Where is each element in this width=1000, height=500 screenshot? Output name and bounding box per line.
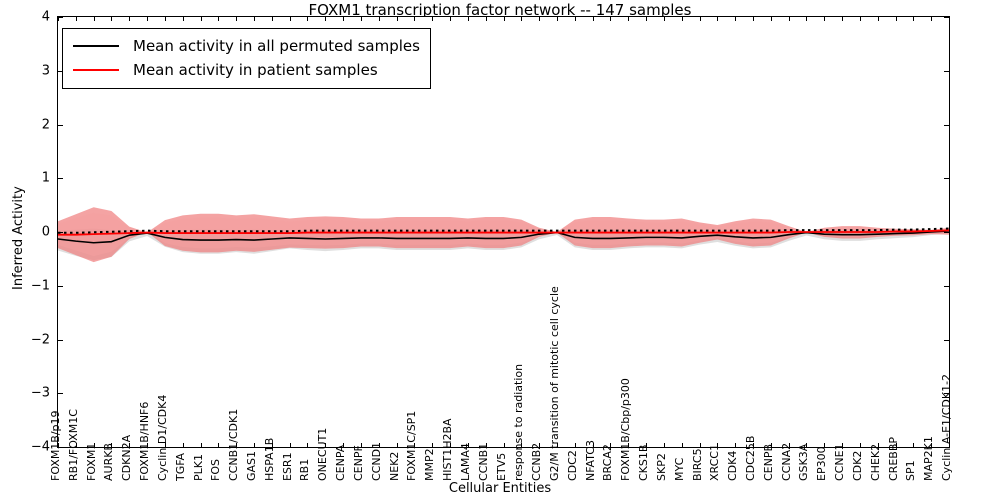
- x-tick-mark: [521, 17, 522, 21]
- x-tick-mark: [860, 17, 861, 21]
- x-tick-label: Cyclin D1/CDK4: [157, 395, 168, 481]
- x-tick-mark: [165, 17, 166, 21]
- x-tick-mark: [218, 17, 219, 21]
- x-tick-mark: [504, 17, 505, 21]
- x-tick-label: CCNA2: [781, 443, 792, 481]
- x-tick-label: RB1: [299, 459, 310, 481]
- x-tick-mark: [307, 17, 308, 21]
- x-tick-label: FOXM1: [86, 443, 97, 481]
- y-tick-mark: [58, 232, 63, 233]
- y-tick-label: 0: [0, 225, 50, 240]
- x-tick-mark: [771, 17, 772, 21]
- x-tick-label: NFATC3: [585, 440, 596, 481]
- x-tick-label: CKS1B: [638, 445, 649, 481]
- legend-label-patient: Mean activity in patient samples: [133, 61, 378, 79]
- x-tick-mark: [806, 17, 807, 21]
- x-tick-mark: [450, 17, 451, 21]
- legend-item-patient: Mean activity in patient samples: [73, 58, 420, 82]
- x-tick-mark: [789, 17, 790, 21]
- x-tick-mark: [575, 17, 576, 21]
- x-tick-label: LAMA4: [460, 443, 471, 481]
- x-tick-mark: [504, 443, 505, 447]
- x-tick-mark: [593, 17, 594, 21]
- y-tick-mark: [58, 286, 63, 287]
- x-tick-label: ETV5: [496, 453, 507, 481]
- x-tick-label: AURKB: [103, 443, 114, 481]
- x-tick-label: BRCA2: [602, 444, 613, 481]
- x-tick-mark: [664, 443, 665, 447]
- legend: Mean activity in all permuted samples Me…: [62, 28, 431, 89]
- x-tick-label: PLK1: [193, 454, 204, 481]
- x-tick-label: CDC25B: [745, 436, 756, 481]
- x-tick-mark: [343, 17, 344, 21]
- x-tick-label: TGFA: [175, 453, 186, 481]
- x-tick-mark: [557, 17, 558, 21]
- x-tick-mark: [147, 17, 148, 21]
- x-tick-label: CENPA: [335, 445, 346, 481]
- y-tick-label: −4: [0, 440, 50, 455]
- x-tick-mark: [58, 17, 59, 21]
- y-tick-mark: [944, 286, 949, 287]
- x-tick-mark: [325, 17, 326, 21]
- x-tick-mark: [183, 17, 184, 21]
- x-tick-label: FOXM1C/SP1: [406, 411, 417, 481]
- y-tick-label: 4: [0, 10, 50, 25]
- x-tick-label: ESR1: [282, 452, 293, 481]
- x-tick-mark: [682, 443, 683, 447]
- y-tick-mark: [58, 125, 63, 126]
- x-tick-mark: [700, 443, 701, 447]
- x-tick-mark: [201, 443, 202, 447]
- x-tick-mark: [290, 17, 291, 21]
- y-tick-mark: [944, 125, 949, 126]
- x-tick-mark: [610, 17, 611, 21]
- y-tick-mark: [58, 340, 63, 341]
- x-tick-label: HSPA1B: [264, 438, 275, 481]
- x-tick-label: ONECUT1: [317, 428, 328, 481]
- x-tick-label: Cyclin A-E1/CDK1-2: [941, 374, 952, 481]
- x-tick-label: EP300: [816, 446, 827, 481]
- y-tick-label: 2: [0, 117, 50, 132]
- x-tick-label: CCNB2: [531, 443, 542, 481]
- x-tick-mark: [432, 17, 433, 21]
- x-tick-mark: [931, 17, 932, 21]
- x-tick-label: FOXM1B/p19: [50, 410, 61, 481]
- x-tick-mark: [76, 17, 77, 21]
- x-axis-tick-labels: FOXM1B/p19RB1/FOXM1CFOXM1AURKBCDKN2AFOXM…: [57, 449, 950, 481]
- x-tick-mark: [753, 17, 754, 21]
- x-tick-mark: [183, 443, 184, 447]
- x-tick-label: CHEK2: [870, 444, 881, 481]
- y-tick-label: −3: [0, 386, 50, 401]
- x-tick-label: GSK3A: [798, 444, 809, 481]
- x-tick-mark: [379, 17, 380, 21]
- x-tick-mark: [272, 17, 273, 21]
- x-tick-mark: [628, 17, 629, 21]
- x-tick-mark: [682, 17, 683, 21]
- x-tick-mark: [949, 17, 950, 21]
- x-tick-mark: [94, 17, 95, 21]
- x-tick-mark: [111, 17, 112, 21]
- x-tick-mark: [700, 17, 701, 21]
- x-tick-mark: [539, 17, 540, 21]
- y-tick-mark: [944, 232, 949, 233]
- y-tick-mark: [944, 71, 949, 72]
- x-tick-mark: [717, 17, 718, 21]
- x-tick-label: SP1: [905, 460, 916, 481]
- x-tick-label: BIRC5: [692, 448, 703, 481]
- x-tick-mark: [664, 17, 665, 21]
- x-tick-label: CREBBP: [888, 437, 899, 481]
- x-tick-label: CDK4: [727, 451, 738, 481]
- x-tick-label: CCNB1/CDK1: [228, 409, 239, 481]
- x-tick-mark: [824, 17, 825, 21]
- x-tick-label: SKP2: [656, 453, 667, 481]
- x-tick-label: response to radiation: [513, 364, 524, 481]
- x-tick-mark: [236, 17, 237, 21]
- x-tick-mark: [860, 443, 861, 447]
- legend-line-permuted-icon: [73, 45, 119, 47]
- x-tick-mark: [307, 443, 308, 447]
- x-tick-mark: [397, 17, 398, 21]
- x-tick-label: CENPB: [763, 444, 774, 481]
- x-tick-label: CENPF: [353, 445, 364, 481]
- y-tick-label: −2: [0, 332, 50, 347]
- x-tick-label: FOS: [210, 459, 221, 481]
- x-tick-mark: [646, 17, 647, 21]
- x-tick-label: CCNE1: [834, 443, 845, 481]
- x-tick-mark: [735, 443, 736, 447]
- x-tick-mark: [486, 17, 487, 21]
- x-tick-label: HIST1H2BA: [442, 418, 453, 481]
- x-tick-mark: [913, 17, 914, 21]
- legend-label-permuted: Mean activity in all permuted samples: [133, 37, 420, 55]
- x-tick-mark: [575, 443, 576, 447]
- x-tick-label: CCNB1: [478, 443, 489, 481]
- legend-item-permuted: Mean activity in all permuted samples: [73, 34, 420, 58]
- x-tick-label: MYC: [674, 458, 685, 481]
- x-tick-label: G2/M transition of mitotic cell cycle: [549, 286, 560, 481]
- x-tick-mark: [397, 443, 398, 447]
- x-tick-mark: [361, 17, 362, 21]
- x-tick-mark: [735, 17, 736, 21]
- y-tick-mark: [944, 340, 949, 341]
- x-tick-label: CDC2: [567, 450, 578, 481]
- x-tick-label: XRCC1: [709, 444, 720, 481]
- x-tick-mark: [290, 443, 291, 447]
- legend-line-patient-icon: [73, 69, 119, 71]
- y-tick-mark: [58, 393, 63, 394]
- x-tick-label: MMP2: [424, 448, 435, 481]
- y-tick-label: 1: [0, 171, 50, 186]
- x-axis-label: Cellular Entities: [0, 481, 1000, 496]
- y-tick-label: 3: [0, 63, 50, 78]
- x-tick-mark: [913, 443, 914, 447]
- chart-figure: FOXM1 transcription factor network -- 14…: [0, 0, 1000, 500]
- y-tick-label: −1: [0, 278, 50, 293]
- x-tick-mark: [896, 17, 897, 21]
- x-tick-label: CDK2: [852, 451, 863, 481]
- y-tick-mark: [944, 178, 949, 179]
- x-tick-mark: [254, 17, 255, 21]
- y-tick-mark: [58, 178, 63, 179]
- x-tick-mark: [218, 443, 219, 447]
- x-tick-mark: [432, 443, 433, 447]
- x-tick-label: CCND1: [371, 442, 382, 481]
- x-tick-label: RB1/FOXM1C: [68, 409, 79, 481]
- x-tick-label: GAS1: [246, 451, 257, 481]
- x-tick-mark: [254, 443, 255, 447]
- x-tick-label: CDKN2A: [121, 435, 132, 481]
- x-tick-mark: [129, 17, 130, 21]
- x-tick-label: FOXM1B/Cbp/p300: [620, 378, 631, 481]
- x-tick-label: FOXM1B/HNF6: [139, 402, 150, 481]
- x-tick-mark: [878, 17, 879, 21]
- x-tick-mark: [414, 17, 415, 21]
- x-tick-label: NEK2: [389, 452, 400, 481]
- x-tick-mark: [468, 17, 469, 21]
- x-tick-mark: [201, 17, 202, 21]
- x-tick-label: MAP2K1: [923, 436, 934, 481]
- x-tick-mark: [842, 17, 843, 21]
